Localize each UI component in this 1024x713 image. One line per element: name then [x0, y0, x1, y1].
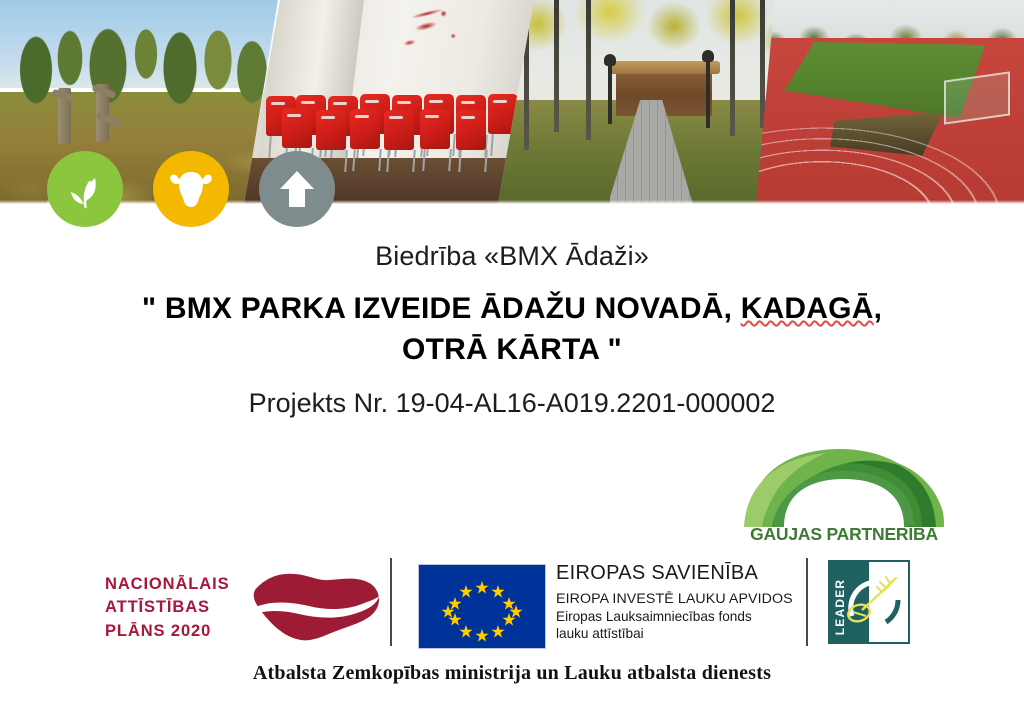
title-line1-suffix: , — [874, 292, 883, 325]
funding-logo-row: NACIONĀLAIS ATTĪSTĪBAS PLĀNS 2020 — [0, 552, 1024, 652]
logo-divider-1 — [390, 558, 392, 646]
title-line2: OTRĀ KĀRTA " — [402, 333, 622, 366]
leader-logo-text: LEADER — [833, 579, 847, 636]
project-number: Projekts Nr. 19-04-AL16-A019.2201-000002 — [0, 388, 1024, 419]
gaujas-partneriba-logo: GAUJAS PARTNERĪBA — [744, 449, 944, 545]
park-path-photo — [498, 0, 798, 204]
gaujas-logo-text: GAUJAS PARTNERĪBA — [744, 524, 944, 545]
logo-divider-2 — [806, 558, 808, 646]
eu-text-block: EIROPAS SAVIENĪBA EIROPA INVESTĒ LAUKU A… — [556, 562, 798, 642]
running-track-photo — [756, 0, 1024, 204]
eu-flag-icon — [418, 564, 546, 649]
text-content: Biedrība «BMX Ādaži» " BMX PARKA IZVEIDE… — [0, 204, 1024, 419]
leader-logo: LEADER — [828, 560, 910, 644]
photo-banner — [0, 0, 1024, 204]
eu-heading: EIROPAS SAVIENĪBA — [556, 562, 798, 585]
nap-text: NACIONĀLAIS ATTĪSTĪBAS PLĀNS 2020 — [105, 573, 229, 643]
title-line1-prefix: " BMX PARKA IZVEIDE ĀDAŽU NOVADĀ, — [142, 292, 741, 325]
title-misspelled-word: KADAGĀ — [741, 292, 874, 325]
eu-body-line2: lauku attīstībai — [556, 626, 798, 643]
latvia-map-icon — [243, 564, 383, 651]
european-union-logo-block: EIROPAS SAVIENĪBA EIROPA INVESTĒ LAUKU A… — [418, 560, 798, 648]
nacionalais-attistibas-plans-logo: NACIONĀLAIS ATTĪSTĪBAS PLĀNS 2020 — [105, 560, 385, 648]
nap-line3: PLĀNS 2020 — [105, 620, 229, 643]
nap-line2: ATTĪSTĪBAS — [105, 596, 229, 619]
footer-support-text: Atbalsta Zemkopības ministrija un Lauku … — [0, 662, 1024, 685]
organization-name: Biedrība «BMX Ādaži» — [0, 241, 1024, 272]
page-title: " BMX PARKA IZVEIDE ĀDAŽU NOVADĀ, KADAGĀ… — [0, 289, 1024, 370]
nap-line1: NACIONĀLAIS — [105, 573, 229, 596]
eu-subheading: EIROPA INVESTĒ LAUKU APVIDOS — [556, 591, 798, 607]
bog-boardwalk-photo — [0, 0, 278, 204]
eu-body-line1: Eiropas Lauksaimniecības fonds — [556, 609, 798, 626]
